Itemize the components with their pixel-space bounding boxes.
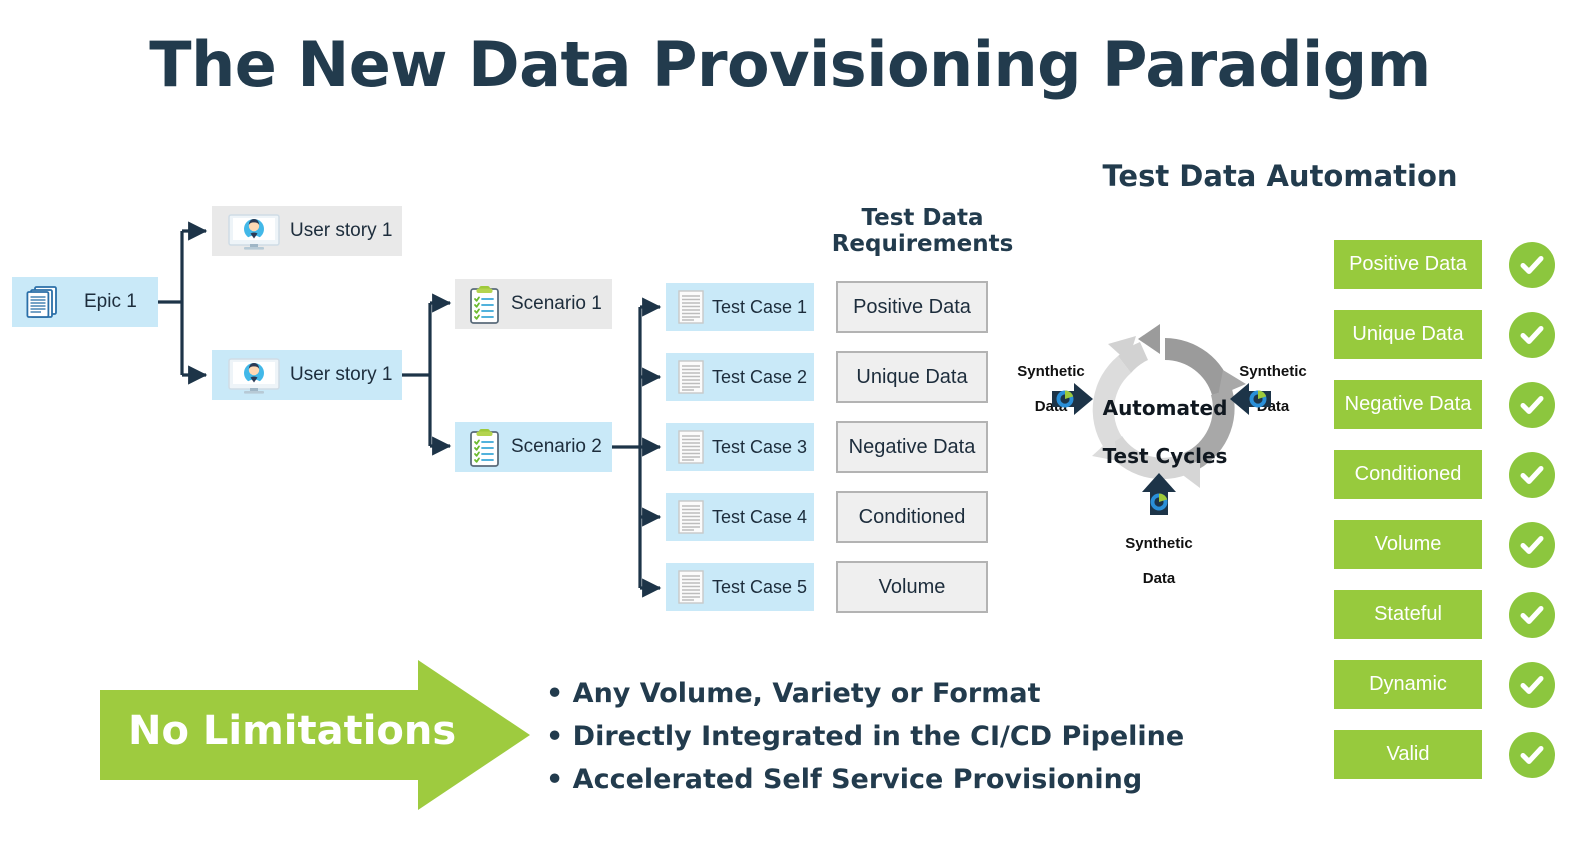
node-label: User story 1 — [290, 364, 392, 386]
node-test-case-1[interactable]: Test Case 1 — [666, 283, 814, 331]
node-label: Test Case 4 — [712, 507, 807, 528]
footer-bullet-text: Any Volume, Variety or Format — [573, 678, 1041, 709]
requirement-box-3[interactable]: Negative Data — [836, 421, 988, 473]
node-test-case-5[interactable]: Test Case 5 — [666, 563, 814, 611]
clipboard-checklist-icon — [467, 285, 503, 330]
document-icon — [678, 360, 704, 399]
requirements-heading-line1: Test Data — [805, 206, 1040, 232]
node-test-case-2[interactable]: Test Case 2 — [666, 353, 814, 401]
synthetic-arrow-right-icon — [1230, 382, 1272, 416]
footer-bullet-3: • Accelerated Self Service Provisioning — [546, 764, 1246, 795]
bullet-dot-icon: • — [546, 678, 563, 709]
node-label: Epic 1 — [84, 291, 137, 313]
capability-pill-4[interactable]: Conditioned — [1334, 450, 1482, 499]
check-circle-icon — [1509, 732, 1555, 778]
requirement-box-1[interactable]: Positive Data — [836, 281, 988, 333]
node-epic-1[interactable]: Epic 1 — [12, 277, 158, 327]
requirements-heading-line2: Requirements — [805, 232, 1040, 258]
document-icon — [678, 500, 704, 539]
capability-pill-1[interactable]: Positive Data — [1334, 240, 1482, 289]
synthetic-label-line1: Synthetic — [1118, 535, 1200, 552]
node-label: Scenario 2 — [511, 436, 602, 458]
footer-bullet-text: Accelerated Self Service Provisioning — [573, 764, 1142, 795]
document-icon — [678, 570, 704, 609]
synthetic-arrow-left-icon — [1052, 382, 1094, 416]
footer-bullet-text: Directly Integrated in the CI/CD Pipelin… — [573, 721, 1185, 752]
node-label: User story 1 — [290, 220, 392, 242]
synthetic-label-line1: Synthetic — [1010, 363, 1092, 380]
node-label: Test Case 5 — [712, 577, 807, 598]
node-label: Test Case 2 — [712, 367, 807, 388]
monitor-user-icon — [226, 358, 282, 399]
node-label: Test Case 3 — [712, 437, 807, 458]
node-scenario-1[interactable]: Scenario 1 — [455, 279, 612, 329]
footer-bullet-2: • Directly Integrated in the CI/CD Pipel… — [546, 721, 1246, 752]
check-circle-icon — [1509, 242, 1555, 288]
cycle-center-line1: Automated — [1090, 396, 1240, 420]
automation-heading: Test Data Automation — [1020, 160, 1540, 192]
synthetic-label-line1: Synthetic — [1232, 363, 1314, 380]
synthetic-label-line2: Data — [1118, 570, 1200, 587]
node-user-story-1a[interactable]: User story 1 — [212, 206, 402, 256]
document-icon — [678, 430, 704, 469]
synthetic-arrow-bottom-icon — [1141, 472, 1177, 516]
capability-pill-6[interactable]: Stateful — [1334, 590, 1482, 639]
requirement-box-4[interactable]: Conditioned — [836, 491, 988, 543]
capability-pill-8[interactable]: Valid — [1334, 730, 1482, 779]
check-circle-icon — [1509, 382, 1555, 428]
document-icon — [678, 290, 704, 329]
check-circle-icon — [1509, 592, 1555, 638]
node-test-case-3[interactable]: Test Case 3 — [666, 423, 814, 471]
check-circle-icon — [1509, 522, 1555, 568]
node-scenario-2[interactable]: Scenario 2 — [455, 422, 612, 472]
check-circle-icon — [1509, 452, 1555, 498]
page-title: The New Data Provisioning Paradigm — [0, 28, 1580, 101]
clipboard-checklist-icon — [467, 428, 503, 473]
requirement-box-5[interactable]: Volume — [836, 561, 988, 613]
requirement-box-2[interactable]: Unique Data — [836, 351, 988, 403]
documents-stack-icon — [26, 285, 62, 324]
bullet-dot-icon: • — [546, 721, 563, 752]
check-circle-icon — [1509, 662, 1555, 708]
capability-pill-7[interactable]: Dynamic — [1334, 660, 1482, 709]
requirements-heading: Test Data Requirements — [805, 206, 1040, 258]
capability-pill-5[interactable]: Volume — [1334, 520, 1482, 569]
bullet-dot-icon: • — [546, 764, 563, 795]
footer-bullet-list: • Any Volume, Variety or Format• Directl… — [546, 678, 1246, 807]
node-test-case-4[interactable]: Test Case 4 — [666, 493, 814, 541]
capability-pill-2[interactable]: Unique Data — [1334, 310, 1482, 359]
node-label: Scenario 1 — [511, 293, 602, 315]
synthetic-data-label-bottom: Synthetic Data — [1118, 518, 1200, 604]
footer-bullet-1: • Any Volume, Variety or Format — [546, 678, 1246, 709]
node-user-story-1b[interactable]: User story 1 — [212, 350, 402, 400]
capability-pill-3[interactable]: Negative Data — [1334, 380, 1482, 429]
monitor-user-icon — [226, 214, 282, 255]
cycle-center-line2: Test Cycles — [1090, 444, 1240, 468]
no-limitations-label: No Limitations — [128, 708, 458, 754]
node-label: Test Case 1 — [712, 297, 807, 318]
check-circle-icon — [1509, 312, 1555, 358]
